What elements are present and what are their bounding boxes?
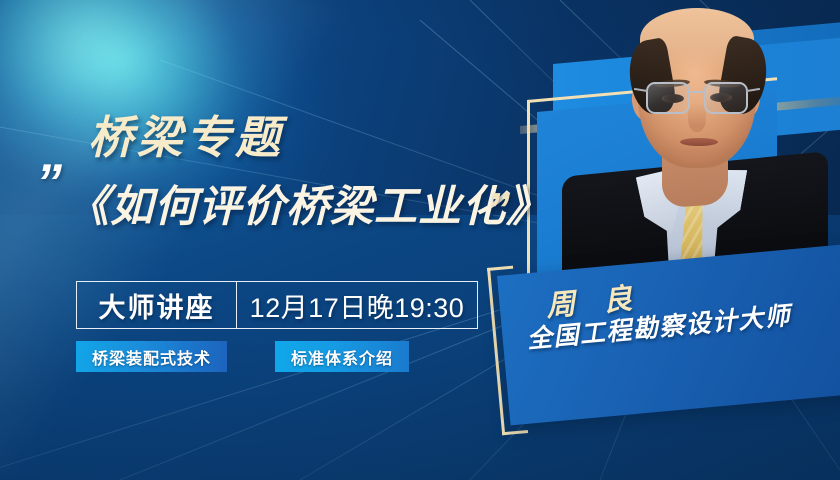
lecture-label-cell: 大师讲座: [77, 282, 237, 328]
lecture-label: 大师讲座: [99, 286, 215, 325]
quote-open-mark: ”: [36, 168, 60, 199]
lecture-datetime-cell: 12月17日晚19:30: [237, 282, 477, 328]
topic-tag-2: 标准体系介绍: [275, 341, 409, 372]
glasses-lens-right: [704, 82, 748, 114]
headline: 桥梁专题: [88, 101, 284, 166]
quote-close-mark: ”: [487, 196, 508, 224]
promo-poster: 周 良 全国工程勘察设计大师 桥梁专题 ” 《如何评价桥梁工业化》 ” 大师讲座…: [0, 0, 840, 480]
portrait-mouth: [680, 138, 718, 146]
glasses-lens-left: [646, 82, 690, 114]
portrait-nose: [688, 102, 706, 132]
topic-tag-1: 桥梁装配式技术: [76, 341, 227, 372]
glasses-bridge: [689, 91, 706, 93]
subtitle: 《如何评价桥梁工业化》: [66, 172, 550, 234]
lecture-info-box: 大师讲座 12月17日晚19:30: [76, 281, 478, 329]
topic-tags: 桥梁装配式技术 标准体系介绍: [76, 341, 409, 372]
portrait-chin: [670, 148, 726, 166]
lecture-datetime: 12月17日晚19:30: [250, 286, 465, 325]
